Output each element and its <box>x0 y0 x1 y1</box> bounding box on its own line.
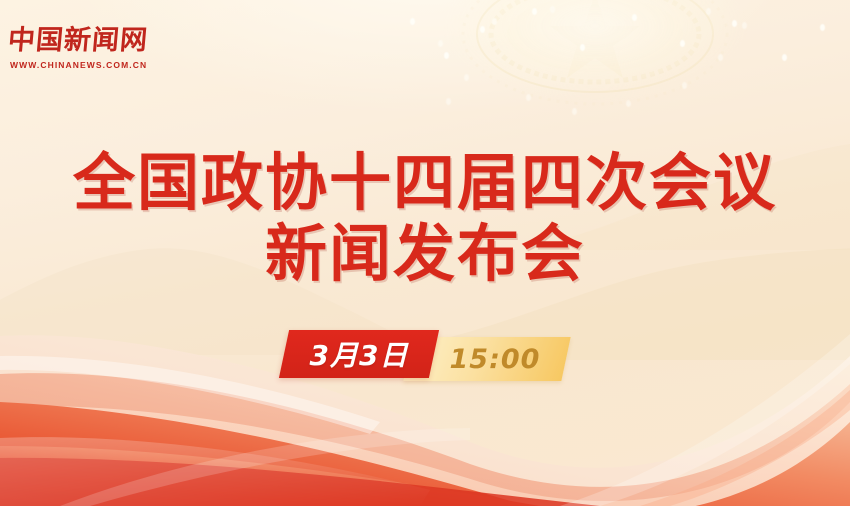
logo-text-cn: 中国新闻网 <box>6 22 139 58</box>
poster-canvas: 中国新闻网 WWW.CHINANEWS.COM.CN 全国政协十四届四次会议 新… <box>0 0 850 506</box>
title-line-2: 新闻发布会 <box>0 218 850 290</box>
date-badge: 3月3日 <box>279 330 439 378</box>
title-line-1: 全国政协十四届四次会议 <box>0 148 850 218</box>
logo-url: WWW.CHINANEWS.COM.CN <box>10 60 138 70</box>
schedule-badges: 3月3日 15:00 <box>0 330 850 381</box>
top-dots-decoration <box>380 0 850 110</box>
date-badge-label: 3月3日 <box>284 330 434 378</box>
poster-title: 全国政协十四届四次会议 新闻发布会 <box>0 148 850 290</box>
chinanews-logo[interactable]: 中国新闻网 WWW.CHINANEWS.COM.CN <box>8 22 138 70</box>
